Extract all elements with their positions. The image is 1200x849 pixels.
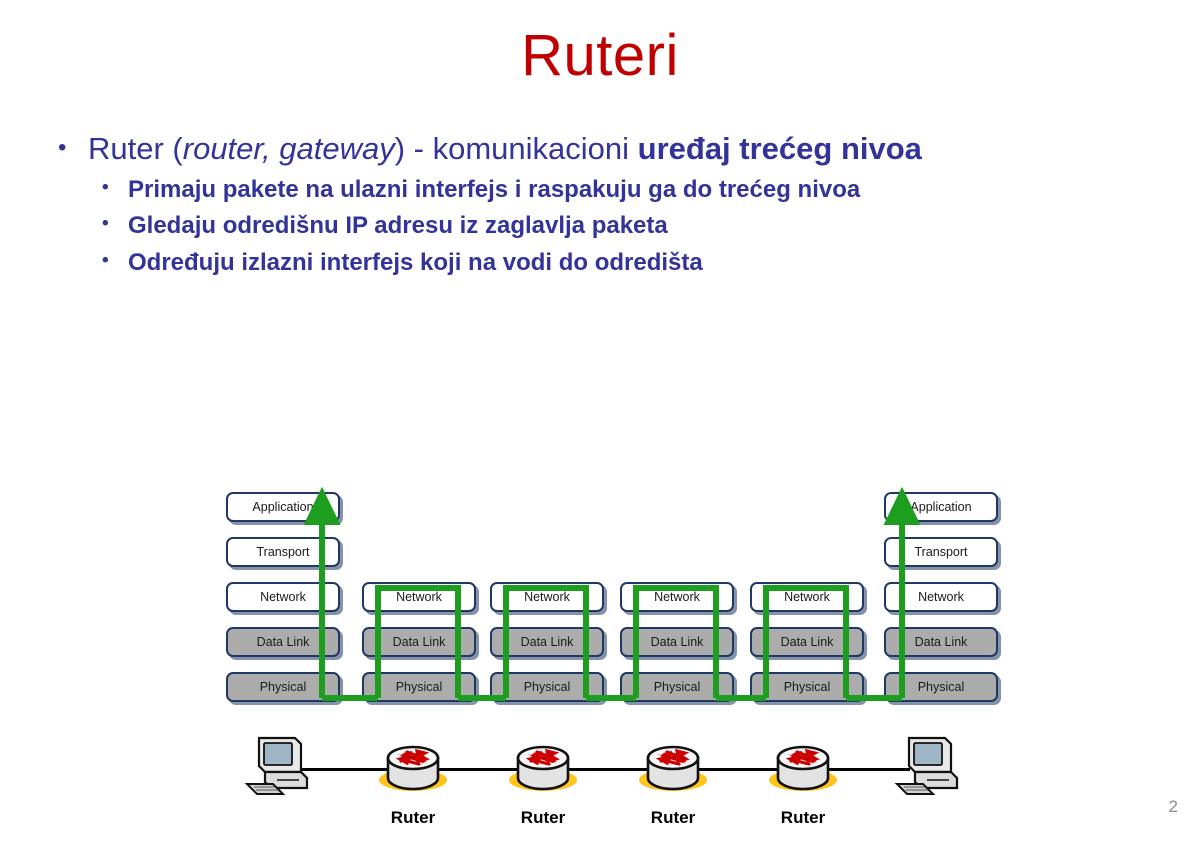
- bullet-level1-text: Ruter (router, gateway) - komunikacioni …: [88, 132, 922, 167]
- layer-box-physical: Physical: [884, 672, 998, 702]
- pc-icon: [233, 726, 333, 806]
- layer-label: Network: [918, 590, 964, 604]
- layer-box-transport: Transport: [884, 537, 998, 567]
- layer-label: Network: [524, 590, 570, 604]
- bullet-level2-text: Primaju pakete na ulazni interfejs i ras…: [128, 176, 860, 204]
- router-icon: [363, 726, 463, 806]
- layer-label: Application: [252, 500, 313, 514]
- bullet-level2-text: Gledaju odredišnu IP adresu iz zaglavlja…: [128, 212, 668, 240]
- host-device: [233, 726, 333, 806]
- layer-box-physical: Physical: [226, 672, 340, 702]
- bullet-list: • Ruter (router, gateway) - komunikacion…: [58, 132, 1158, 286]
- device-label: Ruter: [753, 808, 853, 828]
- bullet-marker-icon: •: [102, 176, 128, 201]
- bullet-level2-text: Određuju izlazni interfejs koji na vodi …: [128, 249, 703, 277]
- bullet-segment-bold: uređaj trećeg nivoa: [638, 131, 922, 166]
- pc-icon: [883, 726, 983, 806]
- bullet-marker-icon: •: [102, 212, 128, 237]
- layer-label: Transport: [914, 545, 967, 559]
- protocol-stack-diagram: ApplicationTransportNetworkData LinkPhys…: [0, 470, 1200, 849]
- layer-label: Data Link: [915, 635, 968, 649]
- layer-box-application: Application: [226, 492, 340, 522]
- layer-box-data-link: Data Link: [620, 627, 734, 657]
- router-device: Ruter: [753, 726, 853, 806]
- layer-label: Network: [396, 590, 442, 604]
- layer-label: Data Link: [521, 635, 574, 649]
- layer-label: Physical: [524, 680, 571, 694]
- layer-box-network: Network: [226, 582, 340, 612]
- device-label: Ruter: [363, 808, 463, 828]
- layer-box-physical: Physical: [362, 672, 476, 702]
- physical-topology-row: Ruter Ruter: [0, 720, 1200, 849]
- layer-box-network: Network: [490, 582, 604, 612]
- bullet-segment-italic: router, gateway: [183, 131, 395, 166]
- layer-box-data-link: Data Link: [750, 627, 864, 657]
- layer-label: Data Link: [651, 635, 704, 649]
- layer-box-data-link: Data Link: [226, 627, 340, 657]
- layer-box-physical: Physical: [490, 672, 604, 702]
- layer-label: Physical: [260, 680, 307, 694]
- layer-label: Data Link: [781, 635, 834, 649]
- layer-label: Data Link: [393, 635, 446, 649]
- layer-label: Physical: [784, 680, 831, 694]
- router-device: Ruter: [363, 726, 463, 806]
- layer-box-data-link: Data Link: [362, 627, 476, 657]
- layer-box-network: Network: [884, 582, 998, 612]
- page-title: Ruteri: [0, 26, 1200, 87]
- layer-label: Physical: [654, 680, 701, 694]
- layer-label: Network: [260, 590, 306, 604]
- router-icon: [493, 726, 593, 806]
- bullet-segment-plain-2: ) - komunikacioni: [395, 131, 638, 166]
- layer-label: Transport: [256, 545, 309, 559]
- device-label: Ruter: [493, 808, 593, 828]
- bullet-level1-item: • Ruter (router, gateway) - komunikacion…: [58, 132, 1158, 167]
- layer-label: Data Link: [257, 635, 310, 649]
- layer-label: Network: [784, 590, 830, 604]
- device-label: Ruter: [623, 808, 723, 828]
- layer-box-network: Network: [620, 582, 734, 612]
- stack-area: ApplicationTransportNetworkData LinkPhys…: [0, 470, 1200, 720]
- bullet-marker-icon: •: [58, 132, 88, 164]
- layer-box-transport: Transport: [226, 537, 340, 567]
- layer-box-data-link: Data Link: [884, 627, 998, 657]
- layer-box-physical: Physical: [750, 672, 864, 702]
- bullet-segment-plain: Ruter (: [88, 131, 183, 166]
- layer-label: Physical: [918, 680, 965, 694]
- layer-label: Physical: [396, 680, 443, 694]
- layer-box-network: Network: [362, 582, 476, 612]
- bullet-marker-icon: •: [102, 249, 128, 274]
- router-icon: [623, 726, 723, 806]
- page-number: 2: [1169, 797, 1178, 817]
- host-device: [883, 726, 983, 806]
- bullet-level2-item-3: • Određuju izlazni interfejs koji na vod…: [102, 249, 1158, 277]
- layer-box-network: Network: [750, 582, 864, 612]
- router-device: Ruter: [493, 726, 593, 806]
- bullet-level2-item-1: • Primaju pakete na ulazni interfejs i r…: [102, 176, 1158, 204]
- bullet-level2-item-2: • Gledaju odredišnu IP adresu iz zaglavl…: [102, 212, 1158, 240]
- router-device: Ruter: [623, 726, 723, 806]
- layer-box-data-link: Data Link: [490, 627, 604, 657]
- layer-box-physical: Physical: [620, 672, 734, 702]
- layer-label: Network: [654, 590, 700, 604]
- router-icon: [753, 726, 853, 806]
- layer-label: Application: [910, 500, 971, 514]
- layer-box-application: Application: [884, 492, 998, 522]
